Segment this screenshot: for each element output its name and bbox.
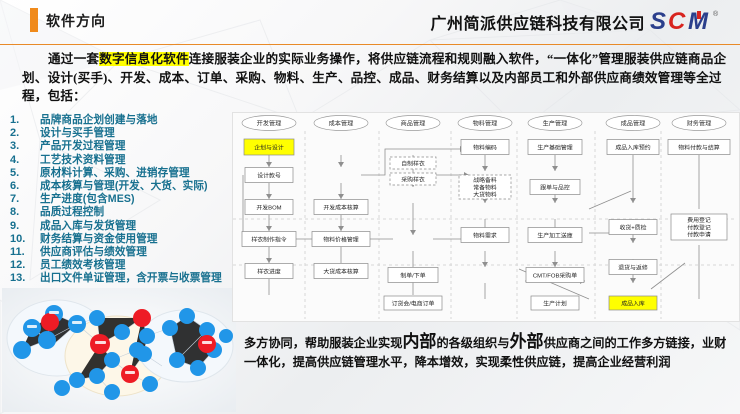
flow-column-headers: 开发管理成本管理商品管理物料管理生产管理成品管理财务管理	[242, 116, 726, 131]
list-item: 4.工艺技术资料管理	[4, 152, 236, 165]
svg-text:收货+质检: 收货+质检	[619, 223, 646, 231]
svg-text:样衣进度: 样衣进度	[257, 267, 281, 275]
flow-column-cost: 成本管理	[314, 116, 368, 131]
concl-line1-b: 的各级组织与	[436, 336, 509, 350]
list-item: 11.供应商评估与绩效管理	[4, 244, 236, 257]
svg-text:开发管理: 开发管理	[257, 120, 282, 128]
list-item-number: 7.	[4, 193, 40, 205]
list-item: 9.成品入库与发货管理	[4, 218, 236, 231]
flow-node[interactable]: 物料价格管理	[312, 232, 370, 247]
svg-text:订货会/电商订单: 订货会/电商订单	[392, 299, 435, 307]
list-item: 10.财务结算与资金使用管理	[4, 231, 236, 244]
flow-node[interactable]: 物料编码	[461, 140, 509, 155]
flow-column-mfg: 生产管理	[528, 116, 582, 131]
intro-line3-tail: ，包括：	[35, 89, 86, 103]
svg-text:物料编码: 物料编码	[473, 143, 497, 151]
list-item-number: 9.	[4, 220, 40, 232]
list-item-number: 6.	[4, 180, 40, 192]
flow-node[interactable]: 生产基础管理	[528, 140, 582, 155]
svg-text:生产加工送庫: 生产加工送庫	[537, 231, 572, 239]
svg-text:设计款号: 设计款号	[257, 171, 281, 179]
flow-node[interactable]: 采购样衣	[390, 173, 436, 185]
svg-text:采购样衣: 采购样衣	[401, 175, 425, 183]
network-graph	[2, 288, 236, 412]
list-item-label: 出口文件单证管理，含开票与收票管理	[40, 270, 222, 285]
list-item-number: 10.	[4, 233, 40, 245]
svg-text:大货成本核算: 大货成本核算	[323, 267, 358, 275]
list-item-number: 5.	[4, 167, 40, 179]
list-item: 5.原材料计算、采购、进销存管理	[4, 165, 236, 178]
svg-text:战略备料: 战略备料	[473, 176, 497, 184]
flow-node[interactable]: 战略备料常备物料大货物料	[459, 175, 511, 199]
list-item: 8.品质过程控制	[4, 204, 236, 217]
intro-paragraph: 通过一套数字信息化软件连接服装企业的实际业务操作，将供应链流程和规则融入软件，“…	[22, 50, 728, 106]
svg-text:商品管理: 商品管理	[401, 120, 426, 128]
svg-text:付款申请: 付款申请	[687, 231, 711, 239]
concl-line1-a: 多方协同，帮助服装企业实现	[244, 336, 402, 350]
flow-column-acc: 财务管理	[672, 116, 726, 131]
svg-text:成品入库: 成品入库	[621, 299, 645, 307]
concl-line3: 提高企业经营利润	[573, 355, 671, 369]
list-item-number: 4.	[4, 154, 40, 166]
svg-text:自制样衣: 自制样衣	[401, 159, 425, 167]
page-title: 软件方向	[46, 11, 106, 31]
svg-text:费用登记: 费用登记	[687, 216, 711, 224]
list-item: 2.设计与买手管理	[4, 125, 236, 138]
list-item-number: 1.	[4, 114, 40, 126]
flow-node[interactable]: 开发BOM	[245, 200, 293, 215]
flow-node[interactable]: CMT/FOB采购单	[526, 268, 584, 283]
flow-node[interactable]: 成品入库预约	[607, 140, 659, 155]
flow-column-prod: 商品管理	[386, 116, 440, 131]
intro-line1-a: 通过一套	[48, 52, 99, 66]
list-item-number: 12.	[4, 259, 40, 271]
flow-node[interactable]: 订货会/电商订单	[384, 296, 442, 310]
list-item: 13.出口文件单证管理，含开票与收票管理	[4, 270, 236, 283]
svg-text:财务管理: 财务管理	[687, 120, 712, 128]
svg-text:开发BOM: 开发BOM	[256, 203, 281, 211]
list-item: 3.产品开发过程管理	[4, 138, 236, 151]
flow-node[interactable]: 企划与设计	[244, 139, 294, 155]
list-item: 6.成本核算与管理(开发、大货、实际)	[4, 178, 236, 191]
flow-node[interactable]: 自制样衣	[390, 157, 436, 169]
list-item-number: 3.	[4, 140, 40, 152]
svg-text:大货物料: 大货物料	[473, 191, 497, 199]
flow-node[interactable]: 物料付款与结算	[668, 140, 730, 155]
supply-chain-flow-diagram: 开发管理成本管理商品管理物料管理生产管理成品管理财务管理 企划与设计设计款号开发…	[232, 112, 740, 322]
list-item: 1.品牌商品企划创建与落地	[4, 112, 236, 125]
flow-node[interactable]: 开发成本核算	[314, 200, 368, 215]
flow-node[interactable]: 样衣制作指令	[242, 232, 296, 247]
svg-text:样衣制作指令: 样衣制作指令	[251, 235, 286, 243]
feature-list: 1.品牌商品企划创建与落地2.设计与买手管理3.产品开发过程管理4.工艺技术资料…	[4, 112, 236, 283]
flow-node[interactable]: 大货成本核算	[314, 264, 368, 279]
svg-text:成品管理: 成品管理	[621, 120, 646, 128]
svg-text:生产基础管理: 生产基础管理	[537, 143, 572, 151]
list-item-number: 8.	[4, 206, 40, 218]
scm-logo: S C M ®	[650, 6, 732, 36]
svg-text:付款登记: 付款登记	[687, 223, 711, 231]
svg-text:C: C	[668, 8, 686, 35]
intro-line1-b: 连接服装企业的实际业务操作，将供应链流程和规则融入软件，“一体化”管理	[189, 52, 624, 66]
svg-text:物料需求: 物料需求	[473, 231, 497, 239]
svg-text:物料价格管理: 物料价格管理	[323, 235, 358, 243]
list-item: 7.生产进度(包含MES)	[4, 191, 236, 204]
svg-text:S: S	[650, 8, 666, 35]
concl-emph-internal: 内部	[402, 332, 436, 351]
svg-text:生产管理: 生产管理	[543, 120, 568, 128]
flow-node[interactable]: 生产加工送庫	[528, 228, 582, 243]
svg-text:®: ®	[713, 10, 719, 18]
flow-node[interactable]: 退货与返修	[609, 260, 657, 275]
flow-column-mat: 物料管理	[458, 116, 512, 131]
svg-text:开发成本核算: 开发成本核算	[323, 203, 358, 211]
svg-text:CMT/FOB采购单: CMT/FOB采购单	[533, 271, 577, 279]
flow-node[interactable]: 设计款号	[245, 168, 293, 183]
flow-node[interactable]: 收货+质检	[609, 220, 657, 235]
header-accent-bar	[30, 8, 38, 32]
header-divider	[0, 44, 740, 45]
concl-line1-c: 供应商之间的工作	[544, 336, 642, 350]
svg-text:跟单与品控: 跟单与品控	[540, 183, 570, 191]
svg-text:制单/下单: 制单/下单	[400, 271, 425, 279]
svg-text:常备物料: 常备物料	[473, 183, 497, 191]
svg-text:退货与返修: 退货与返修	[618, 263, 648, 271]
flow-node[interactable]: 生产计划	[531, 296, 579, 310]
svg-text:成品入库预约: 成品入库预约	[615, 143, 650, 151]
svg-text:成本管理: 成本管理	[329, 120, 354, 128]
intro-highlight: 数字信息化软件	[99, 52, 189, 66]
conclusion-paragraph: 多方协同，帮助服装企业实现内部的各级组织与外部供应商之间的工作多方链接，业财一体…	[244, 332, 736, 372]
list-item: 12.员工绩效考核管理	[4, 257, 236, 270]
flow-column-dev: 开发管理	[242, 116, 296, 131]
flow-node[interactable]: 跟单与品控	[530, 180, 580, 195]
svg-text:企划与设计: 企划与设计	[254, 143, 284, 151]
company-name: 广州简派供应链科技有限公司	[430, 10, 645, 34]
page-header: 软件方向 广州简派供应链科技有限公司 S C M ®	[0, 0, 740, 40]
svg-text:物料付款与结算: 物料付款与结算	[678, 143, 719, 151]
flow-arrowheads	[253, 146, 636, 284]
flow-node[interactable]: 制单/下单	[388, 268, 438, 283]
svg-text:生产计划: 生产计划	[543, 299, 567, 307]
column-dividers	[305, 131, 661, 319]
flow-column-fin: 成品管理	[606, 116, 660, 131]
svg-text:物料管理: 物料管理	[473, 120, 498, 128]
list-item-number: 13.	[4, 272, 40, 284]
flow-node[interactable]: 成品入库	[609, 296, 657, 310]
list-item-number: 11.	[4, 246, 40, 258]
flow-node[interactable]: 样衣进度	[245, 264, 293, 279]
list-item-number: 2.	[4, 127, 40, 139]
flow-node[interactable]: 物料需求	[461, 228, 509, 243]
concl-emph-external: 外部	[510, 332, 544, 351]
flow-node[interactable]: 费用登记付款登记付款申请	[671, 214, 727, 240]
